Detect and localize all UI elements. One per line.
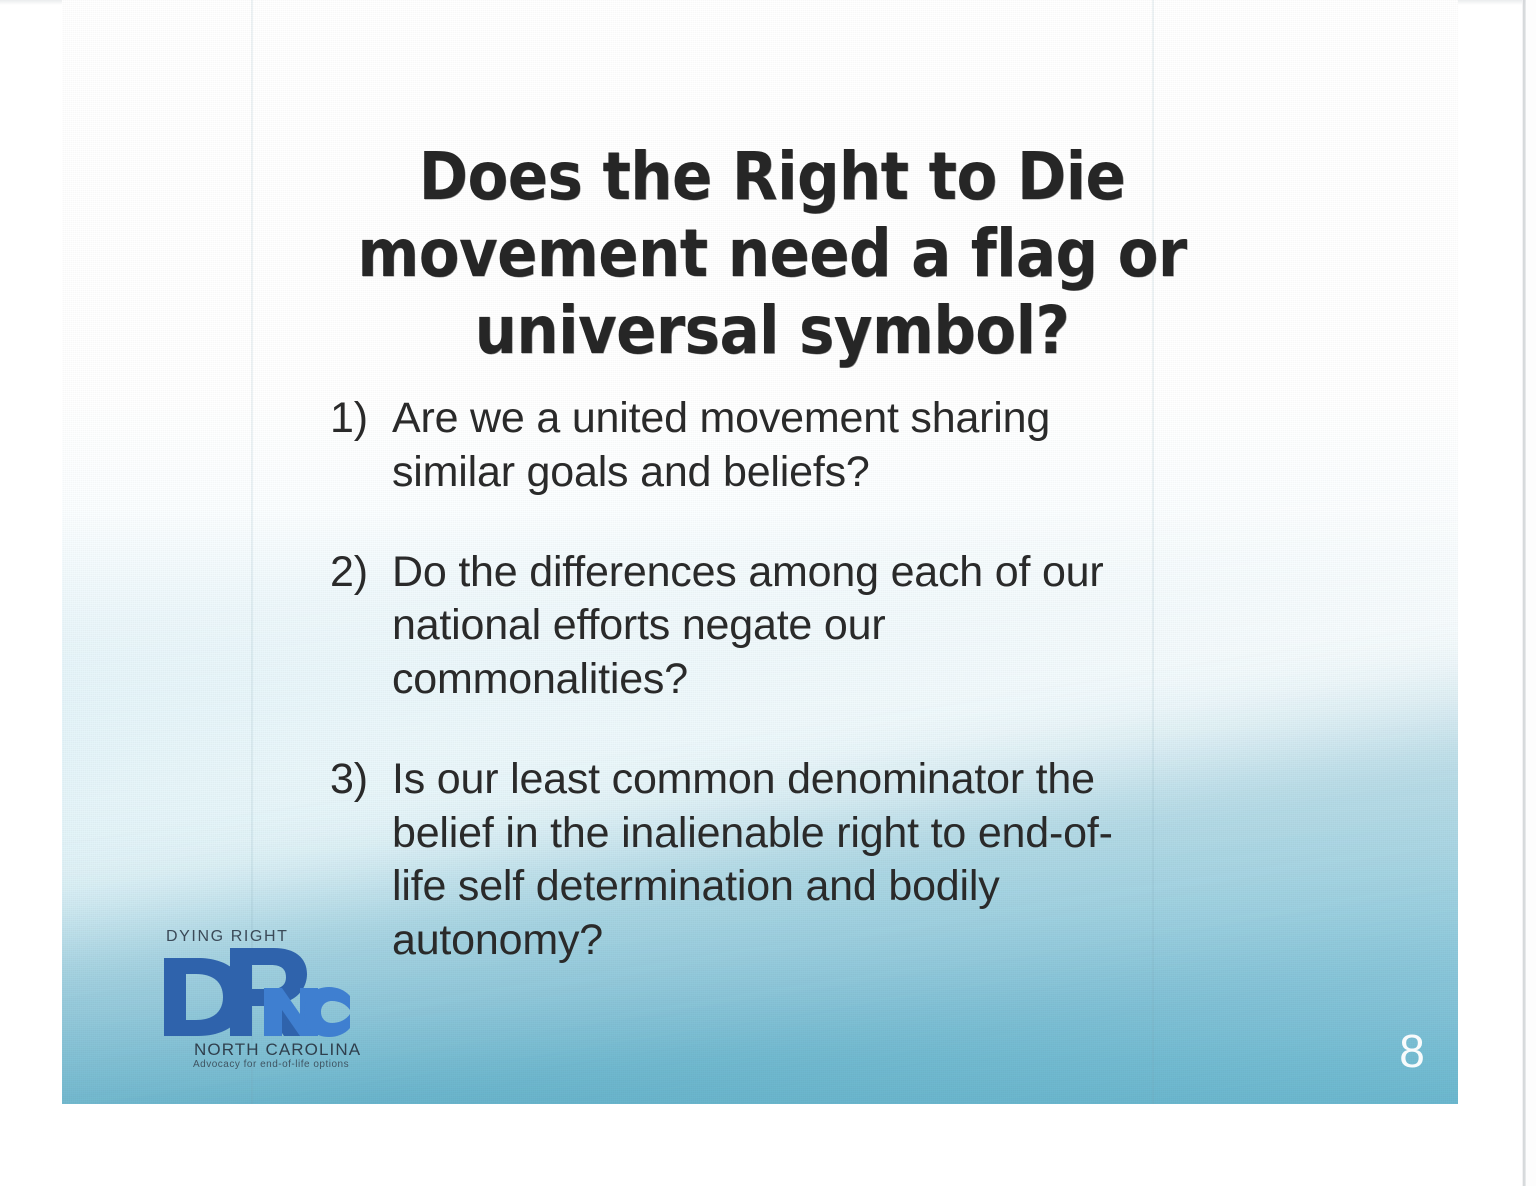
list-item-marker: 2)	[330, 546, 392, 600]
logo-letter-c	[304, 987, 350, 1037]
list-item-marker: 3)	[330, 753, 392, 807]
list-item-text: Do the differences among each of our nat…	[392, 546, 1230, 707]
list-item-line: life self determination and bodily	[392, 860, 1230, 914]
list-item-line: autonomy?	[392, 914, 1230, 968]
slide-body-list: 1) Are we a united movement sharing simi…	[330, 392, 1230, 968]
logo-bottom-text: NORTH CAROLINA	[194, 1040, 361, 1060]
list-item-marker: 1)	[330, 392, 392, 446]
list-item: 1) Are we a united movement sharing simi…	[330, 392, 1230, 500]
presentation-slide: Does the Right to Die movement need a fl…	[62, 0, 1458, 1104]
drnc-logo: DYING RIGHT NORTH CAROLINA Advocacy for …	[158, 928, 358, 1080]
list-item-line: belief in the inalienable right to end-o…	[392, 807, 1230, 861]
list-item-line: commonalities?	[392, 653, 1230, 707]
list-item: 2) Do the differences among each of our …	[330, 546, 1230, 707]
list-item-text: Are we a united movement sharing similar…	[392, 392, 1230, 500]
slide-title-line-2: movement need a flag or	[295, 215, 1249, 292]
slide-title-line-3: universal symbol?	[295, 292, 1249, 369]
scan-right-margin	[1526, 0, 1536, 1186]
list-item-line: national efforts negate our	[392, 599, 1230, 653]
scanned-page: Does the Right to Die movement need a fl…	[0, 0, 1536, 1186]
logo-tagline: Advocacy for end-of-life options	[193, 1059, 349, 1070]
drnc-monogram-icon	[158, 944, 358, 1040]
list-item-line: Are we a united movement sharing	[392, 392, 1230, 446]
list-item-line: similar goals and beliefs?	[392, 446, 1230, 500]
list-item: 3) Is our least common denominator the b…	[330, 753, 1230, 968]
page-number: 8	[1382, 1024, 1442, 1078]
list-item-text: Is our least common denominator the beli…	[392, 753, 1230, 968]
list-item-line: Is our least common denominator the	[392, 753, 1230, 807]
slide-title: Does the Right to Die movement need a fl…	[295, 138, 1249, 370]
slide-title-line-1: Does the Right to Die	[295, 138, 1249, 215]
list-item-line: Do the differences among each of our	[392, 546, 1230, 600]
